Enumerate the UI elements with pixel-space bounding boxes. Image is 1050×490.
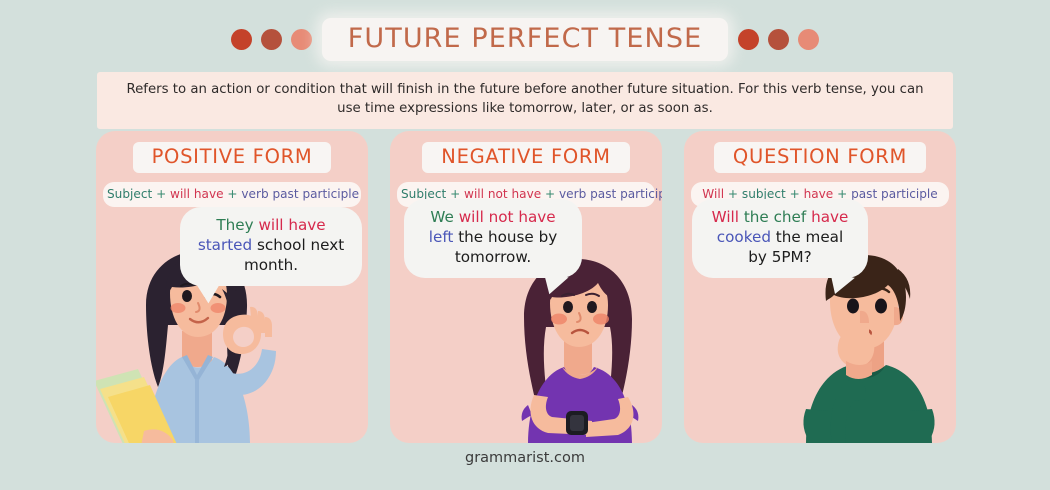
site-credit: grammarist.com	[0, 450, 1050, 466]
formula-badge: Subject + will have + verb past particip…	[103, 182, 361, 207]
card-title-badge: NEGATIVE FORM	[422, 142, 629, 173]
example-word-subject: They	[216, 216, 258, 234]
dot-brick-icon	[768, 29, 789, 50]
card-negative-form: NEGATIVE FORM Subject + will not have + …	[390, 131, 662, 443]
definition-text: Refers to an action or condition that wi…	[97, 72, 953, 129]
formula-part-participle: verb past participle	[241, 187, 359, 201]
card-title-badge: POSITIVE FORM	[133, 142, 332, 173]
example-speech-bubble: We will not have left the house by tomor…	[404, 199, 582, 278]
decorative-dots-right	[738, 29, 819, 50]
example-speech-bubble: Will the chef have cooked the meal by 5P…	[692, 199, 868, 278]
illustration-man-thinking	[772, 249, 956, 443]
formula: Subject + will have + verb past particip…	[107, 185, 357, 203]
example-word-auxiliary: Will	[712, 208, 744, 226]
card-question-form: QUESTION FORM Will + subject + have + pa…	[684, 131, 956, 443]
formula-part-auxiliary: will have	[170, 187, 224, 201]
example-word-subject: We	[430, 208, 458, 226]
formula-part-participle: verb past participle	[559, 187, 662, 201]
card-title: POSITIVE FORM	[152, 145, 313, 168]
dot-salmon-icon	[798, 29, 819, 50]
example-word-subject: the chef	[744, 208, 811, 226]
example-word-participle: started	[198, 236, 257, 254]
illustration-woman-checking-watch	[480, 255, 662, 443]
example-word-auxiliary: will have	[258, 216, 325, 234]
forms-container: POSITIVE FORM Subject + will have + verb…	[96, 131, 956, 443]
formula-part-participle: past participle	[851, 187, 938, 201]
dot-red-icon	[738, 29, 759, 50]
formula-plus: +	[224, 187, 242, 201]
page-title: FUTURE PERFECT TENSE	[348, 23, 703, 54]
example-word-participle: left	[429, 228, 458, 246]
dot-red-icon	[231, 29, 252, 50]
example-word-have: have	[811, 208, 848, 226]
page-title-badge: FUTURE PERFECT TENSE	[322, 18, 729, 61]
example-word-auxiliary: will not have	[459, 208, 556, 226]
card-positive-form: POSITIVE FORM Subject + will have + verb…	[96, 131, 368, 443]
card-title: QUESTION FORM	[733, 145, 907, 168]
card-title: NEGATIVE FORM	[441, 145, 610, 168]
dot-brick-icon	[261, 29, 282, 50]
formula-part-subject: Subject	[107, 187, 152, 201]
page-header: FUTURE PERFECT TENSE	[0, 16, 1050, 62]
decorative-dots-left	[231, 29, 312, 50]
example-word-rest: school next month.	[244, 236, 344, 274]
formula-plus: +	[152, 187, 170, 201]
card-title-badge: QUESTION FORM	[714, 142, 926, 173]
example-word-rest: the house by tomorrow.	[455, 228, 557, 266]
dot-salmon-icon	[291, 29, 312, 50]
example-word-participle: cooked	[717, 228, 776, 246]
example-speech-bubble: They will have started school next month…	[180, 207, 362, 286]
